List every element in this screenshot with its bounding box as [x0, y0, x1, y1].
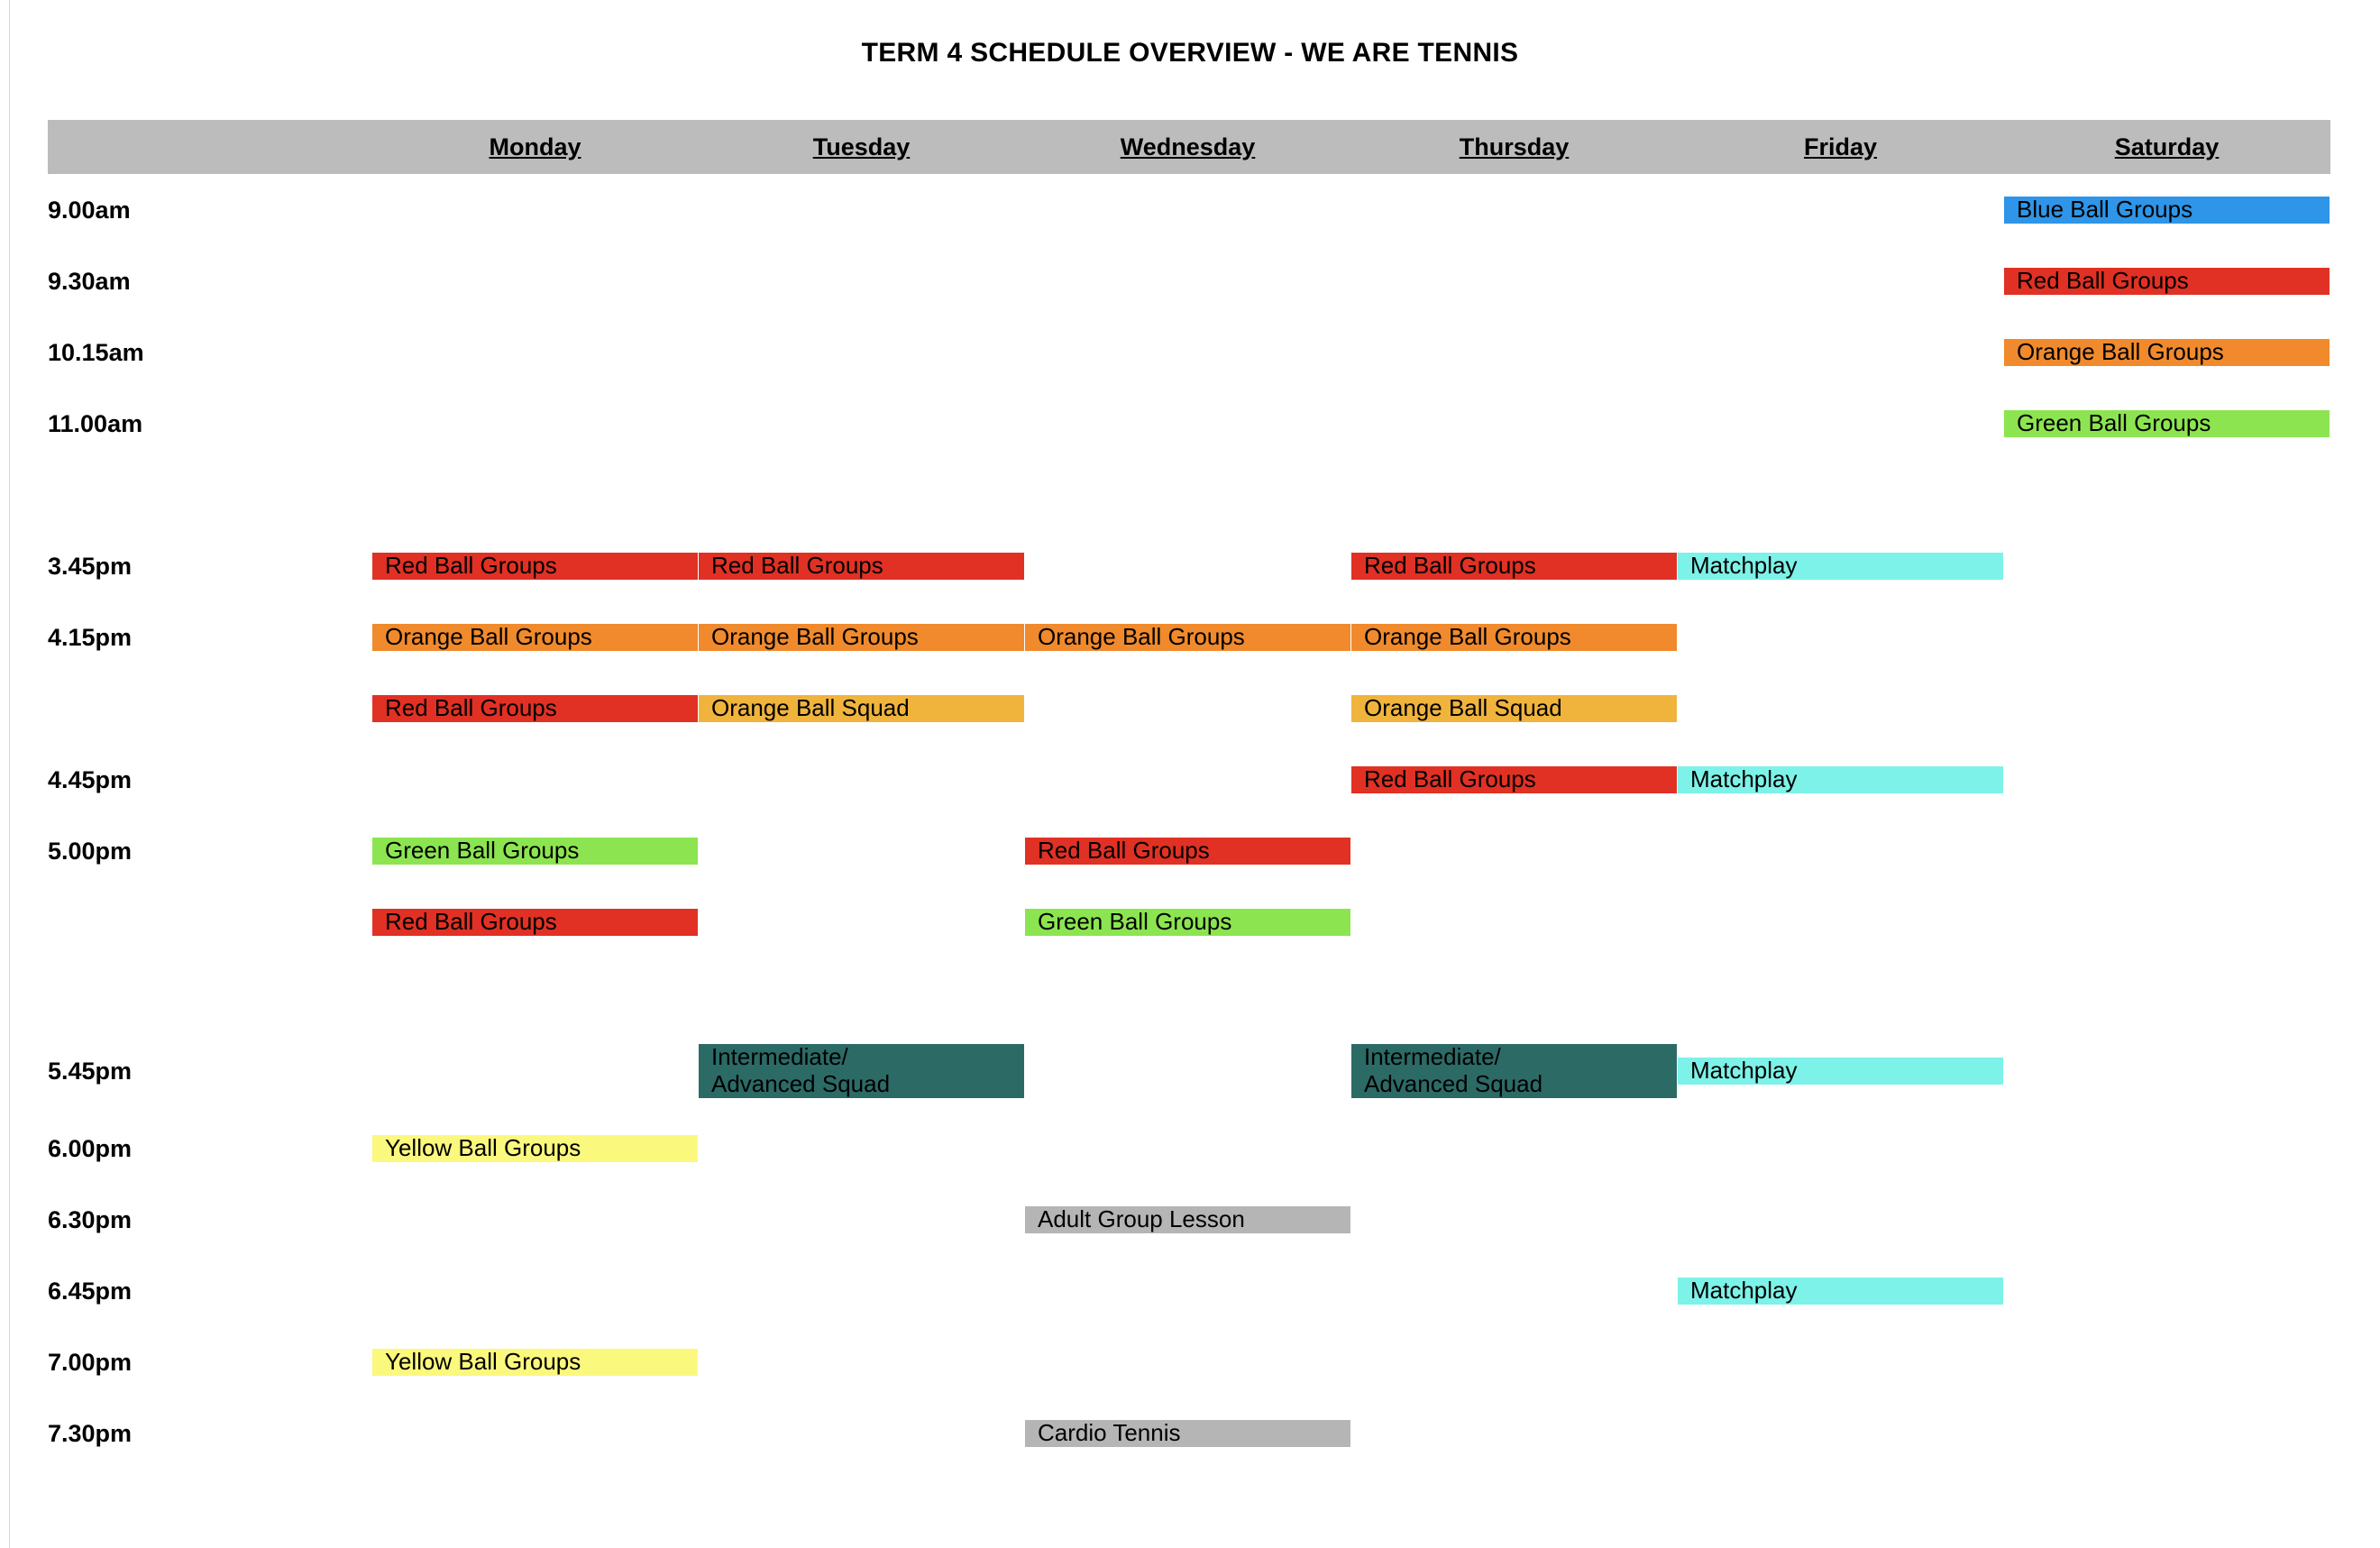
schedule-empty-cell-tuesday: [699, 1113, 1025, 1185]
header-row: Monday Tuesday Wednesday Thursday Friday…: [48, 120, 2330, 175]
schedule-entry-monday[interactable]: Red Ball Groups: [372, 531, 699, 602]
schedule-empty-cell-thursday: [1351, 887, 1678, 958]
schedule-empty-cell-friday: [1678, 602, 2004, 673]
schedule-entry-monday[interactable]: Orange Ball Groups: [372, 602, 699, 673]
schedule-entry-thursday[interactable]: Red Ball Groups: [1351, 531, 1678, 602]
schedule-entry-label: Orange Ball Groups: [2004, 339, 2330, 365]
schedule-empty-cell-wednesday: [1025, 175, 1351, 246]
column-header-tuesday-label: Tuesday: [813, 133, 911, 160]
schedule-entry-label: Orange Ball Groups: [1351, 624, 1677, 650]
schedule-empty-cell-saturday: [2004, 531, 2330, 602]
schedule-empty-cell-friday: [1678, 1327, 2004, 1398]
schedule-empty-cell-friday: [1678, 673, 2004, 745]
schedule-empty-cell-monday: [372, 745, 699, 816]
schedule-entry-monday[interactable]: Yellow Ball Groups: [372, 1113, 699, 1185]
table-row: 6.00pmYellow Ball Groups: [48, 1113, 2330, 1185]
table-row: 4.45pmRed Ball GroupsMatchplay: [48, 745, 2330, 816]
schedule-empty-cell-tuesday: [699, 1256, 1025, 1327]
schedule-empty-cell-saturday: [2004, 816, 2330, 887]
schedule-empty-cell-monday: [372, 1256, 699, 1327]
row-time-label: 6.00pm: [48, 1113, 372, 1185]
row-time-label: 4.45pm: [48, 745, 372, 816]
schedule-document: TERM 4 SCHEDULE OVERVIEW - WE ARE TENNIS…: [0, 0, 2380, 1548]
schedule-empty-cell-wednesday: [1025, 317, 1351, 389]
schedule-entry-tuesday[interactable]: Red Ball Groups: [699, 531, 1025, 602]
schedule-entry-monday[interactable]: Red Ball Groups: [372, 673, 699, 745]
table-row: [48, 958, 2330, 1030]
schedule-empty-cell-wednesday: [1025, 1030, 1351, 1113]
row-time-label: 7.30pm: [48, 1398, 372, 1470]
schedule-entry-wednesday[interactable]: Cardio Tennis: [1025, 1398, 1351, 1470]
schedule-entry-label: Red Ball Groups: [699, 553, 1024, 579]
schedule-entry-label: Red Ball Groups: [1351, 766, 1677, 792]
table-row: 4.15pmOrange Ball GroupsOrange Ball Grou…: [48, 602, 2330, 673]
schedule-entry-thursday[interactable]: Red Ball Groups: [1351, 745, 1678, 816]
table-row: 6.45pmMatchplay: [48, 1256, 2330, 1327]
column-header-friday-label: Friday: [1804, 133, 1877, 160]
schedule-empty-cell-thursday: [1351, 175, 1678, 246]
schedule-entry-label: Red Ball Groups: [1351, 553, 1677, 579]
schedule-entry-wednesday[interactable]: Red Ball Groups: [1025, 816, 1351, 887]
schedule-entry-tuesday[interactable]: Orange Ball Squad: [699, 673, 1025, 745]
schedule-empty-cell-thursday: [1351, 1398, 1678, 1470]
row-time-label: 5.00pm: [48, 816, 372, 887]
schedule-empty-cell-monday: [372, 389, 699, 460]
table-row: 10.15amOrange Ball Groups: [48, 317, 2330, 389]
schedule-empty-cell-saturday: [2004, 958, 2330, 1030]
schedule-empty-cell-thursday: [1351, 246, 1678, 317]
schedule-empty-cell-friday: [1678, 246, 2004, 317]
schedule-entry-label: Green Ball Groups: [2004, 410, 2330, 436]
table-header: Monday Tuesday Wednesday Thursday Friday…: [48, 120, 2330, 175]
schedule-entry-thursday[interactable]: Orange Ball Groups: [1351, 602, 1678, 673]
schedule-entry-friday[interactable]: Matchplay: [1678, 745, 2004, 816]
schedule-empty-cell-tuesday: [699, 745, 1025, 816]
schedule-empty-cell-tuesday: [699, 958, 1025, 1030]
column-header-saturday: Saturday: [2004, 120, 2330, 175]
table-row: 5.00pmGreen Ball GroupsRed Ball Groups: [48, 816, 2330, 887]
schedule-empty-cell-tuesday: [699, 175, 1025, 246]
schedule-empty-cell-saturday: [2004, 1113, 2330, 1185]
column-header-monday: Monday: [372, 120, 699, 175]
schedule-entry-label: Matchplay: [1678, 1058, 2003, 1084]
schedule-entry-thursday[interactable]: Orange Ball Squad: [1351, 673, 1678, 745]
table-row: 7.00pmYellow Ball Groups: [48, 1327, 2330, 1398]
schedule-empty-cell-monday: [372, 175, 699, 246]
schedule-entry-label: Red Ball Groups: [372, 909, 698, 935]
schedule-entry-thursday[interactable]: Intermediate/Advanced Squad: [1351, 1030, 1678, 1113]
schedule-entry-label: Red Ball Groups: [1025, 838, 1350, 864]
schedule-entry-saturday[interactable]: Blue Ball Groups: [2004, 175, 2330, 246]
column-header-time: [48, 120, 372, 175]
schedule-entry-label: Red Ball Groups: [372, 553, 698, 579]
schedule-empty-cell-friday: [1678, 1113, 2004, 1185]
schedule-entry-label: Matchplay: [1678, 1278, 2003, 1304]
schedule-empty-cell-saturday: [2004, 1185, 2330, 1256]
schedule-empty-cell-saturday: [2004, 1030, 2330, 1113]
schedule-entry-label: Orange Ball Squad: [1351, 695, 1677, 721]
schedule-entry-friday[interactable]: Matchplay: [1678, 1030, 2004, 1113]
schedule-empty-cell-monday: [372, 1185, 699, 1256]
schedule-empty-cell-wednesday: [1025, 958, 1351, 1030]
schedule-entry-label: Blue Ball Groups: [2004, 197, 2330, 223]
table-row: 5.45pmIntermediate/Advanced SquadInterme…: [48, 1030, 2330, 1113]
schedule-empty-cell-thursday: [1351, 389, 1678, 460]
schedule-entry-tuesday[interactable]: Intermediate/Advanced Squad: [699, 1030, 1025, 1113]
table-row: 7.30pmCardio Tennis: [48, 1398, 2330, 1470]
schedule-entry-label: Orange Ball Squad: [699, 695, 1024, 721]
row-time-label: [48, 673, 372, 745]
schedule-entry-label: Green Ball Groups: [1025, 909, 1350, 935]
column-header-friday: Friday: [1678, 120, 2004, 175]
schedule-empty-cell-friday: [1678, 1185, 2004, 1256]
schedule-empty-cell-friday: [1678, 317, 2004, 389]
row-time-label: 10.15am: [48, 317, 372, 389]
schedule-entry-saturday[interactable]: Red Ball Groups: [2004, 246, 2330, 317]
column-header-wednesday-label: Wednesday: [1121, 133, 1256, 160]
schedule-empty-cell-friday: [1678, 389, 2004, 460]
schedule-empty-cell-saturday: [2004, 460, 2330, 531]
schedule-empty-cell-thursday: [1351, 816, 1678, 887]
schedule-entry-label: Intermediate/Advanced Squad: [1351, 1044, 1677, 1098]
schedule-empty-cell-thursday: [1351, 1327, 1678, 1398]
page-title: TERM 4 SCHEDULE OVERVIEW - WE ARE TENNIS: [0, 38, 2380, 69]
schedule-entry-label: Orange Ball Groups: [1025, 624, 1350, 650]
column-header-wednesday: Wednesday: [1025, 120, 1351, 175]
table-row: 9.00amBlue Ball Groups: [48, 175, 2330, 246]
schedule-empty-cell-saturday: [2004, 1256, 2330, 1327]
schedule-empty-cell-thursday: [1351, 317, 1678, 389]
schedule-entry-label: Orange Ball Groups: [699, 624, 1024, 650]
schedule-empty-cell-saturday: [2004, 1327, 2330, 1398]
schedule-empty-cell-friday: [1678, 816, 2004, 887]
schedule-entry-label: Cardio Tennis: [1025, 1420, 1350, 1446]
schedule-entry-tuesday[interactable]: Orange Ball Groups: [699, 602, 1025, 673]
schedule-entry-monday[interactable]: Yellow Ball Groups: [372, 1327, 699, 1398]
schedule-empty-cell-tuesday: [699, 1398, 1025, 1470]
schedule-empty-cell-monday: [372, 1030, 699, 1113]
column-header-thursday: Thursday: [1351, 120, 1678, 175]
schedule-empty-cell-saturday: [2004, 673, 2330, 745]
schedule-empty-cell-tuesday: [699, 246, 1025, 317]
row-time-label: 9.30am: [48, 246, 372, 317]
schedule-empty-cell-saturday: [2004, 887, 2330, 958]
schedule-entry-saturday[interactable]: Orange Ball Groups: [2004, 317, 2330, 389]
table-row: Red Ball GroupsGreen Ball Groups: [48, 887, 2330, 958]
schedule-entry-wednesday[interactable]: Adult Group Lesson: [1025, 1185, 1351, 1256]
schedule-entry-monday[interactable]: Red Ball Groups: [372, 887, 699, 958]
schedule-empty-cell-tuesday: [699, 460, 1025, 531]
table-row: 6.30pmAdult Group Lesson: [48, 1185, 2330, 1256]
schedule-entry-label: Yellow Ball Groups: [372, 1349, 698, 1375]
table-row: 9.30amRed Ball Groups: [48, 246, 2330, 317]
schedule-empty-cell-saturday: [2004, 1398, 2330, 1470]
row-time-label: [48, 460, 372, 531]
schedule-empty-cell-tuesday: [699, 1185, 1025, 1256]
schedule-empty-cell-wednesday: [1025, 389, 1351, 460]
schedule-entry-label: Matchplay: [1678, 766, 2003, 792]
schedule-empty-cell-wednesday: [1025, 460, 1351, 531]
schedule-empty-cell-tuesday: [699, 1327, 1025, 1398]
row-time-label: 6.45pm: [48, 1256, 372, 1327]
schedule-entry-monday[interactable]: Green Ball Groups: [372, 816, 699, 887]
schedule-entry-label: Orange Ball Groups: [372, 624, 698, 650]
schedule-entry-wednesday[interactable]: Orange Ball Groups: [1025, 602, 1351, 673]
schedule-empty-cell-thursday: [1351, 1185, 1678, 1256]
row-time-label: 7.00pm: [48, 1327, 372, 1398]
schedule-entry-label: Yellow Ball Groups: [372, 1135, 698, 1161]
table-row: Red Ball GroupsOrange Ball SquadOrange B…: [48, 673, 2330, 745]
schedule-empty-cell-thursday: [1351, 460, 1678, 531]
schedule-empty-cell-wednesday: [1025, 673, 1351, 745]
schedule-empty-cell-wednesday: [1025, 1256, 1351, 1327]
schedule-entry-wednesday[interactable]: Green Ball Groups: [1025, 887, 1351, 958]
row-time-label: 5.45pm: [48, 1030, 372, 1113]
schedule-empty-cell-wednesday: [1025, 745, 1351, 816]
schedule-empty-cell-wednesday: [1025, 531, 1351, 602]
row-time-label: 3.45pm: [48, 531, 372, 602]
schedule-empty-cell-tuesday: [699, 389, 1025, 460]
column-header-tuesday: Tuesday: [699, 120, 1025, 175]
schedule-empty-cell-wednesday: [1025, 1327, 1351, 1398]
schedule-empty-cell-monday: [372, 1398, 699, 1470]
schedule-empty-cell-friday: [1678, 175, 2004, 246]
schedule-empty-cell-wednesday: [1025, 1113, 1351, 1185]
schedule-empty-cell-tuesday: [699, 887, 1025, 958]
schedule-empty-cell-monday: [372, 958, 699, 1030]
schedule-empty-cell-monday: [372, 317, 699, 389]
schedule-entry-friday[interactable]: Matchplay: [1678, 1256, 2004, 1327]
row-time-label: 4.15pm: [48, 602, 372, 673]
schedule-empty-cell-friday: [1678, 887, 2004, 958]
schedule-empty-cell-friday: [1678, 460, 2004, 531]
row-time-label: 11.00am: [48, 389, 372, 460]
schedule-empty-cell-tuesday: [699, 317, 1025, 389]
table-body: 9.00amBlue Ball Groups9.30amRed Ball Gro…: [48, 175, 2330, 1470]
row-time-label: 9.00am: [48, 175, 372, 246]
schedule-entry-label: Matchplay: [1678, 553, 2003, 579]
schedule-empty-cell-monday: [372, 246, 699, 317]
schedule-empty-cell-thursday: [1351, 1256, 1678, 1327]
schedule-empty-cell-thursday: [1351, 1113, 1678, 1185]
schedule-table: Monday Tuesday Wednesday Thursday Friday…: [47, 120, 2330, 1470]
table-row: 11.00amGreen Ball Groups: [48, 389, 2330, 460]
schedule-empty-cell-friday: [1678, 1398, 2004, 1470]
schedule-empty-cell-thursday: [1351, 958, 1678, 1030]
schedule-entry-label: Red Ball Groups: [372, 695, 698, 721]
schedule-entry-label: Red Ball Groups: [2004, 268, 2330, 294]
schedule-entry-label: Adult Group Lesson: [1025, 1206, 1350, 1232]
schedule-empty-cell-friday: [1678, 958, 2004, 1030]
schedule-empty-cell-saturday: [2004, 745, 2330, 816]
schedule-entry-saturday[interactable]: Green Ball Groups: [2004, 389, 2330, 460]
schedule-empty-cell-saturday: [2004, 602, 2330, 673]
row-time-label: [48, 887, 372, 958]
row-time-label: 6.30pm: [48, 1185, 372, 1256]
schedule-empty-cell-monday: [372, 460, 699, 531]
table-row: 3.45pmRed Ball GroupsRed Ball GroupsRed …: [48, 531, 2330, 602]
row-time-label: [48, 958, 372, 1030]
column-header-thursday-label: Thursday: [1460, 133, 1570, 160]
schedule-empty-cell-wednesday: [1025, 246, 1351, 317]
column-header-monday-label: Monday: [489, 133, 581, 160]
column-header-saturday-label: Saturday: [2115, 133, 2220, 160]
schedule-entry-friday[interactable]: Matchplay: [1678, 531, 2004, 602]
schedule-entry-label: Green Ball Groups: [372, 838, 698, 864]
schedule-entry-label: Intermediate/Advanced Squad: [699, 1044, 1024, 1098]
schedule-empty-cell-tuesday: [699, 816, 1025, 887]
table-row: [48, 460, 2330, 531]
